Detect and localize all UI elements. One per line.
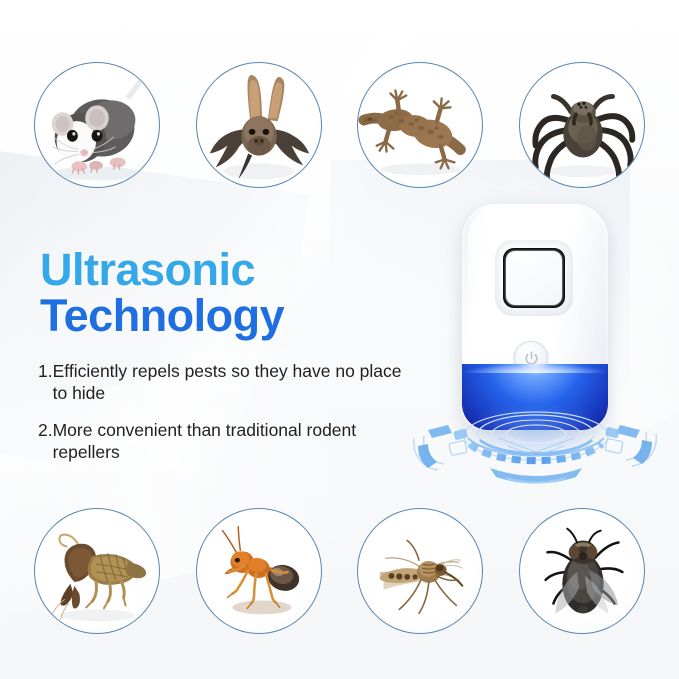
grille-face [506, 251, 562, 305]
pest-circle-ant [196, 508, 322, 634]
pest-circle-cricket [34, 508, 160, 634]
feature-item: 1. Efficiently repels pests so they have… [38, 360, 420, 405]
grille-slot [503, 248, 565, 308]
headline-line-1: Ultrasonic [40, 248, 284, 292]
pest-circle-bat [196, 62, 322, 188]
speaker-grille [495, 240, 573, 316]
pest-row-top [0, 62, 679, 188]
pest-circle-mouse [34, 62, 160, 188]
headline: Ultrasonic Technology [40, 248, 284, 338]
pest-circle-spider [519, 62, 645, 188]
pest-circle-fly [519, 508, 645, 634]
feature-number: 2. [38, 419, 53, 464]
product-infographic: Ultrasonic Technology 1. Efficiently rep… [0, 0, 679, 679]
feature-number: 1. [38, 360, 53, 405]
feature-text: More convenient than traditional rodent … [53, 419, 420, 464]
pest-circle-mosquito [357, 508, 483, 634]
feature-text: Efficiently repels pests so they have no… [53, 360, 420, 405]
ultrasonic-wave-hud [398, 394, 674, 514]
ultrasonic-pest-repeller [398, 196, 674, 526]
feature-item: 2. More convenient than traditional rode… [38, 419, 420, 464]
pest-circle-gecko [357, 62, 483, 188]
base-highlight [462, 364, 608, 373]
pest-row-bottom [0, 508, 679, 634]
feature-list: 1. Efficiently repels pests so they have… [38, 360, 420, 478]
headline-line-2: Technology [40, 294, 284, 338]
